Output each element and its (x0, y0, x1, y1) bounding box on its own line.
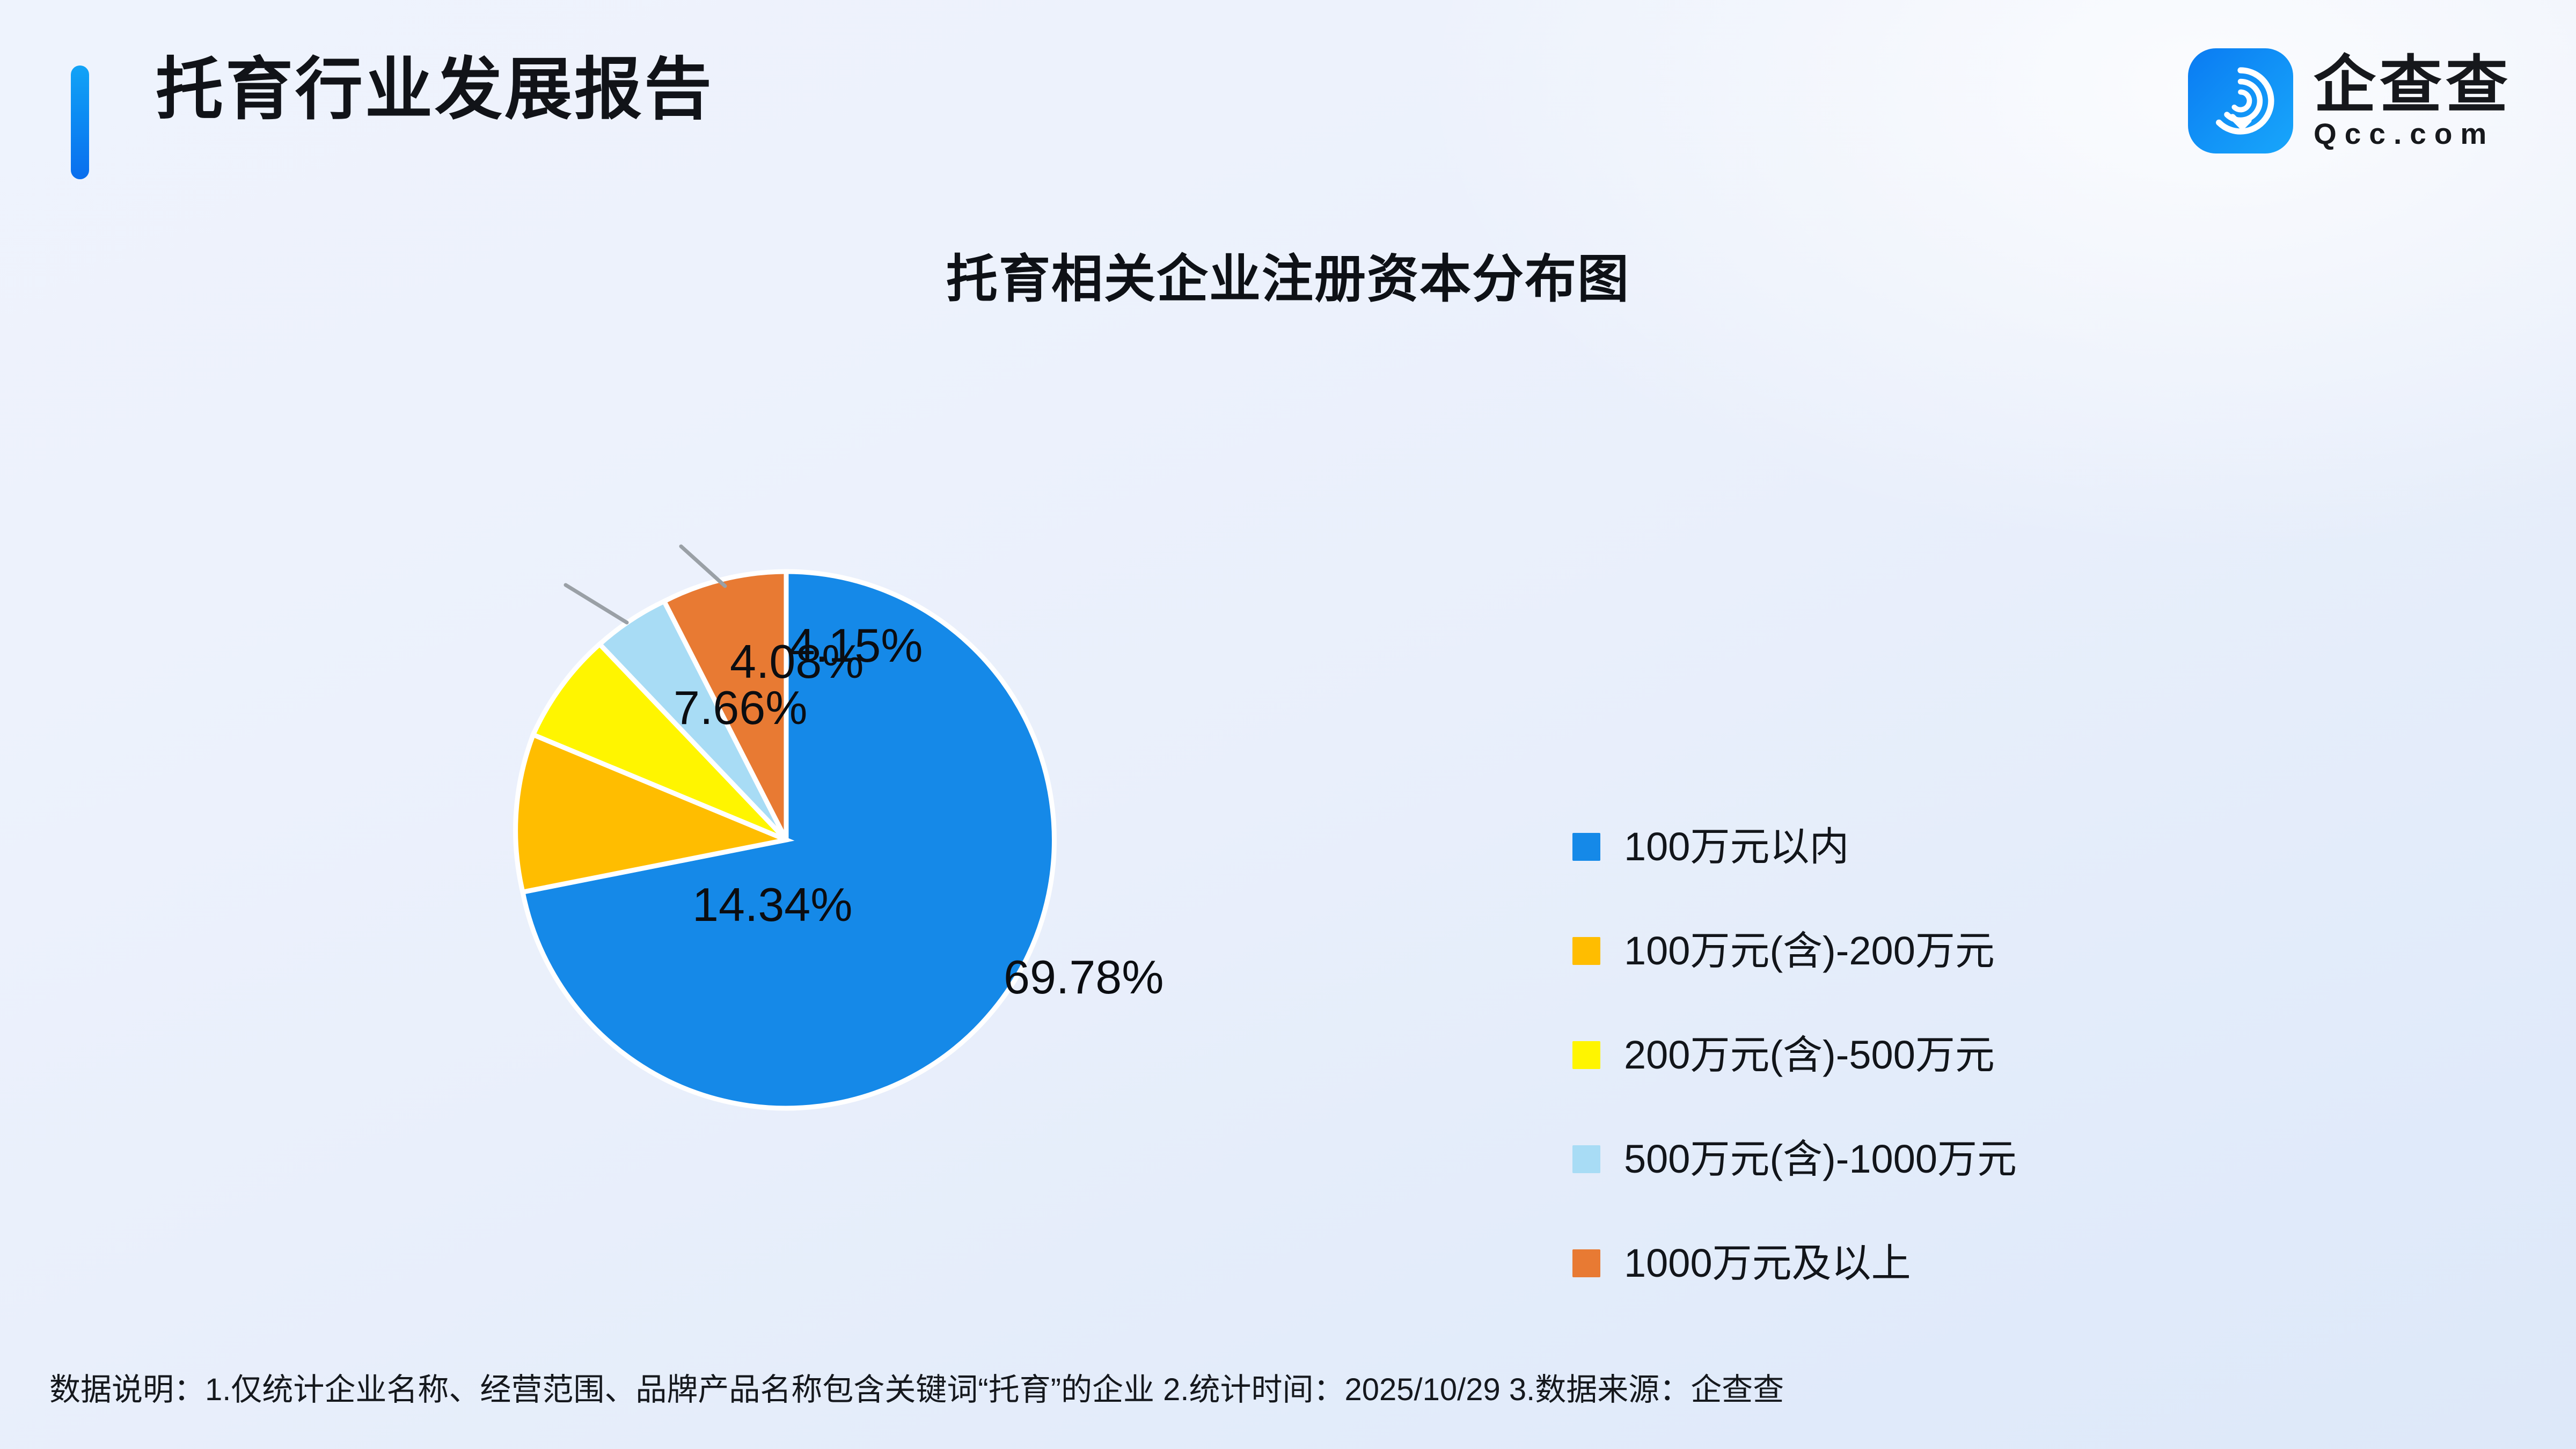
qcc-logo-icon (2188, 48, 2293, 153)
page-title: 托育行业发展报告 (156, 56, 714, 123)
page-header: 托育行业发展报告 企查查 Qcc.com (0, 0, 2576, 204)
legend-label-4: 1000万元及以上 (1624, 1243, 1911, 1283)
pie-chart: 69.78% 14.34% 7.66% 4.08% 4.15% (408, 322, 1197, 1261)
legend-label-0: 100万元以内 (1624, 827, 1849, 867)
leader-line-4.15 (681, 546, 725, 586)
legend-label-3: 500万元(含)-1000万元 (1624, 1139, 2017, 1179)
legend-item-1[interactable]: 100万元(含)-200万元 (1572, 925, 2324, 977)
legend-label-1: 100万元(含)-200万元 (1624, 931, 1995, 971)
leader-line-4.08 (566, 585, 627, 623)
legend-swatch-icon-0 (1572, 833, 1600, 861)
legend-swatch-icon-2 (1572, 1041, 1600, 1069)
legend-label-2: 200万元(含)-500万元 (1624, 1035, 1995, 1075)
legend-swatch-icon-3 (1572, 1145, 1600, 1173)
chart-title: 托育相关企业注册资本分布图 (0, 237, 2576, 312)
brand-name-cn: 企查查 (2314, 54, 2512, 116)
brand-wordmark: 企查查 Qcc.com (2314, 54, 2512, 149)
pie-value-label-0: 69.78% (1004, 950, 1163, 1005)
legend-item-2[interactable]: 200万元(含)-500万元 (1572, 1029, 2324, 1081)
title-accent-bar (71, 65, 89, 179)
footer-data-note: 数据说明：1.仅统计企业名称、经营范围、品牌产品名称包含关键词“托育”的企业 2… (49, 1364, 1784, 1409)
legend-item-3[interactable]: 500万元(含)-1000万元 (1572, 1133, 2324, 1185)
pie-svg (408, 322, 1197, 1261)
legend-item-4[interactable]: 1000万元及以上 (1572, 1238, 2324, 1289)
pie-value-label-4: 4.15% (789, 618, 923, 673)
legend-swatch-icon-4 (1572, 1249, 1600, 1277)
chart-plot-area: 69.78% 14.34% 7.66% 4.08% 4.15% 100万元以内 … (0, 322, 2576, 1288)
chart-legend: 100万元以内 100万元(含)-200万元 200万元(含)-500万元 50… (1572, 821, 2324, 1289)
brand-name-en: Qcc.com (2314, 119, 2512, 149)
brand-logo[interactable]: 企查查 Qcc.com (2188, 48, 2512, 153)
legend-swatch-icon-1 (1572, 937, 1600, 965)
pie-value-label-1: 14.34% (692, 877, 852, 932)
legend-item-0[interactable]: 100万元以内 (1572, 821, 2324, 873)
